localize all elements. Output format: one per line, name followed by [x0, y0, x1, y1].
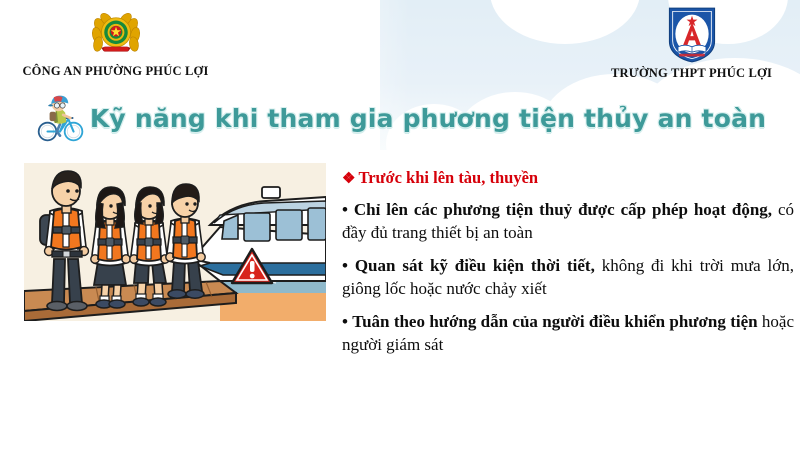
dot-bullet-icon: • [342, 256, 348, 275]
page-title: Kỹ năng khi tham gia phương tiện thủy an… [90, 104, 766, 133]
header-left-org: CÔNG AN PHƯỜNG PHÚC LỢI [8, 6, 223, 79]
slide-canvas: CÔNG AN PHƯỜNG PHÚC LỢI TRƯỜNG THPT PHÚC… [0, 0, 800, 450]
students-in-life-jackets-illustration [24, 163, 326, 321]
header-right-org: TRƯỜNG THPT PHÚC LỢI [589, 6, 794, 81]
school-shield-emblem-icon [665, 6, 719, 64]
title-row: Kỹ năng khi tham gia phương tiện thủy an… [0, 92, 800, 144]
school-org-name: TRƯỜNG THPT PHÚC LỢI [589, 66, 794, 81]
bullet-point-2: • Quan sát kỹ điều kiện thời tiết, không… [342, 255, 794, 300]
child-on-bicycle-icon [34, 92, 86, 144]
diamond-bullet-icon: ❖ [342, 171, 355, 187]
dot-bullet-icon: • [342, 312, 348, 331]
dot-bullet-icon: • [342, 200, 348, 219]
bullet-point-3-bold: Tuân theo hướng dẫn của người điều khiển… [352, 312, 757, 331]
section-heading-text: Trước khi lên tàu, thuyền [358, 168, 538, 187]
content-text-block: ❖Trước khi lên tàu, thuyền • Chỉ lên các… [342, 168, 794, 357]
section-heading: ❖Trước khi lên tàu, thuyền [342, 168, 794, 188]
bullet-point-1: • Chỉ lên các phương tiện thuỷ được cấp … [342, 199, 794, 244]
bullet-point-2-bold: Quan sát kỹ điều kiện thời tiết, [355, 256, 595, 275]
bullet-point-3: • Tuân theo hướng dẫn của người điều khi… [342, 311, 794, 356]
bullet-point-1-bold: Chỉ lên các phương tiện thuỷ được cấp ph… [354, 200, 772, 219]
illustration-svg [24, 163, 326, 321]
vietnam-police-emblem-icon [88, 6, 144, 62]
police-org-name: CÔNG AN PHƯỜNG PHÚC LỢI [8, 64, 223, 79]
